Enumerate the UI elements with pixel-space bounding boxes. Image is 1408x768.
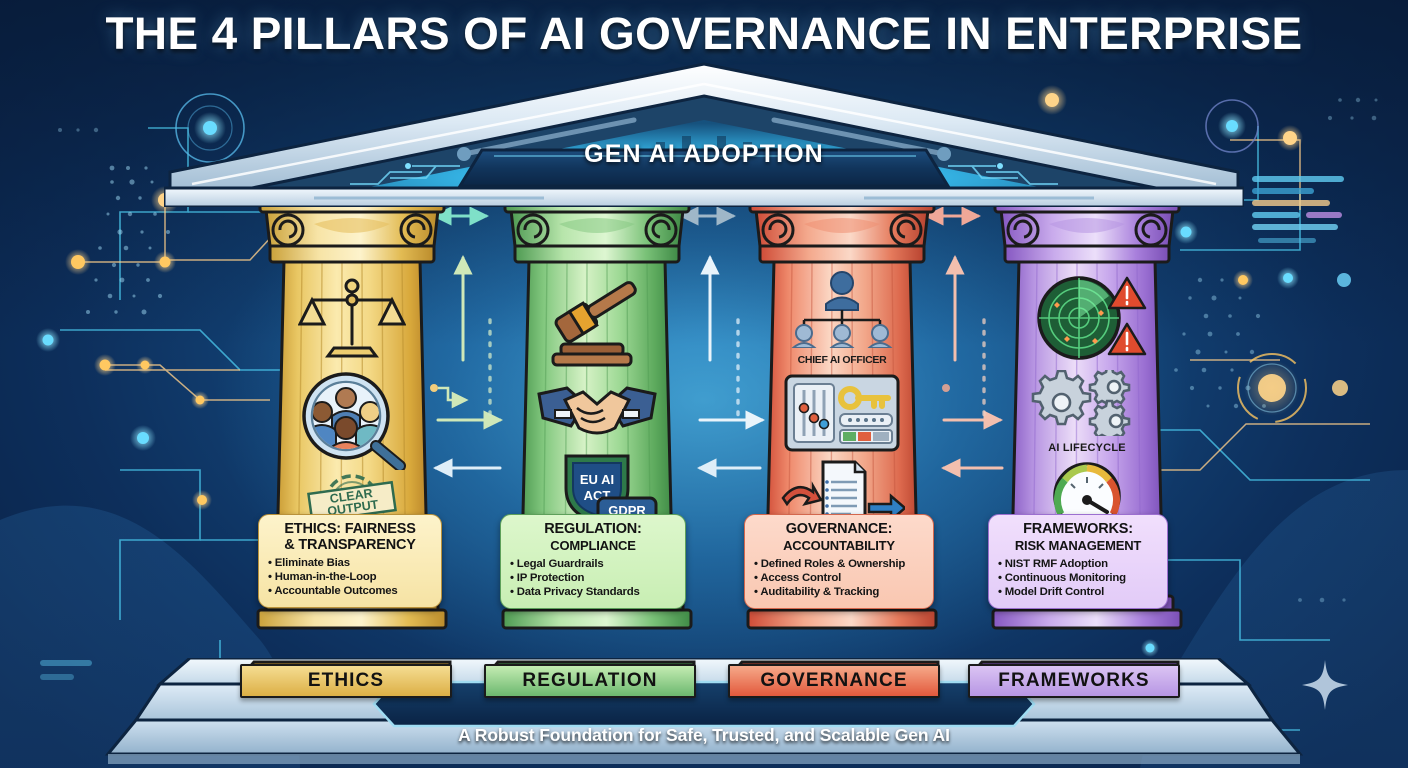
card-governance-bullets: Defined Roles & Ownership Access Control… — [754, 557, 924, 600]
list-item: Auditability & Tracking — [754, 585, 924, 599]
list-item: Defined Roles & Ownership — [754, 557, 924, 571]
plinth-frameworks-label: FRAMEWORKS — [998, 670, 1149, 692]
list-item: Legal Guardrails — [510, 557, 676, 571]
plinth-regulation-label: REGULATION — [522, 670, 657, 692]
infographic-canvas: THE 4 PILLARS OF AI GOVERNANCE IN ENTERP… — [0, 0, 1408, 768]
pediment-roof — [164, 62, 1244, 207]
plinth-ethics[interactable]: ETHICS — [240, 656, 452, 700]
list-item: Access Control — [754, 571, 924, 585]
card-frameworks-bullets: NIST RMF Adoption Continuous Monitoring … — [998, 557, 1158, 600]
card-regulation-bullets: Legal Guardrails IP Protection Data Priv… — [510, 557, 676, 600]
card-governance[interactable]: GOVERNANCE: ACCOUNTABILITY Defined Roles… — [744, 514, 934, 609]
plinth-governance[interactable]: GOVERNANCE — [728, 656, 940, 700]
plinth-regulation[interactable]: REGULATION — [484, 656, 696, 700]
sparkle-icon — [1302, 660, 1348, 710]
list-item: Accountable Outcomes — [268, 584, 432, 598]
foundation-base — [0, 658, 1408, 768]
card-regulation[interactable]: REGULATION: COMPLIANCE Legal Guardrails … — [500, 514, 686, 609]
card-ethics-bullets: Eliminate Bias Human-in-the-Loop Account… — [268, 556, 432, 599]
card-frameworks[interactable]: FRAMEWORKS: RISK MANAGEMENT NIST RMF Ado… — [988, 514, 1168, 609]
plinth-governance-label: GOVERNANCE — [760, 670, 907, 692]
list-item: NIST RMF Adoption — [998, 557, 1158, 571]
plinth-ethics-label: ETHICS — [308, 670, 384, 692]
list-item: Human-in-the-Loop — [268, 570, 432, 584]
card-ethics-title: ETHICS: FAIRNESS & TRANSPARENCY — [268, 522, 432, 553]
card-regulation-title: REGULATION: COMPLIANCE — [510, 522, 676, 554]
list-item: Model Drift Control — [998, 585, 1158, 599]
plinth-frameworks[interactable]: FRAMEWORKS — [968, 656, 1180, 700]
list-item: IP Protection — [510, 571, 676, 585]
card-frameworks-title: FRAMEWORKS: RISK MANAGEMENT — [998, 522, 1158, 554]
card-ethics[interactable]: ETHICS: FAIRNESS & TRANSPARENCY Eliminat… — [258, 514, 442, 608]
list-item: Continuous Monitoring — [998, 571, 1158, 585]
list-item: Data Privacy Standards — [510, 585, 676, 599]
page-title: THE 4 PILLARS OF AI GOVERNANCE IN ENTERP… — [0, 8, 1408, 60]
card-governance-title: GOVERNANCE: ACCOUNTABILITY — [754, 522, 924, 554]
list-item: Eliminate Bias — [268, 556, 432, 570]
